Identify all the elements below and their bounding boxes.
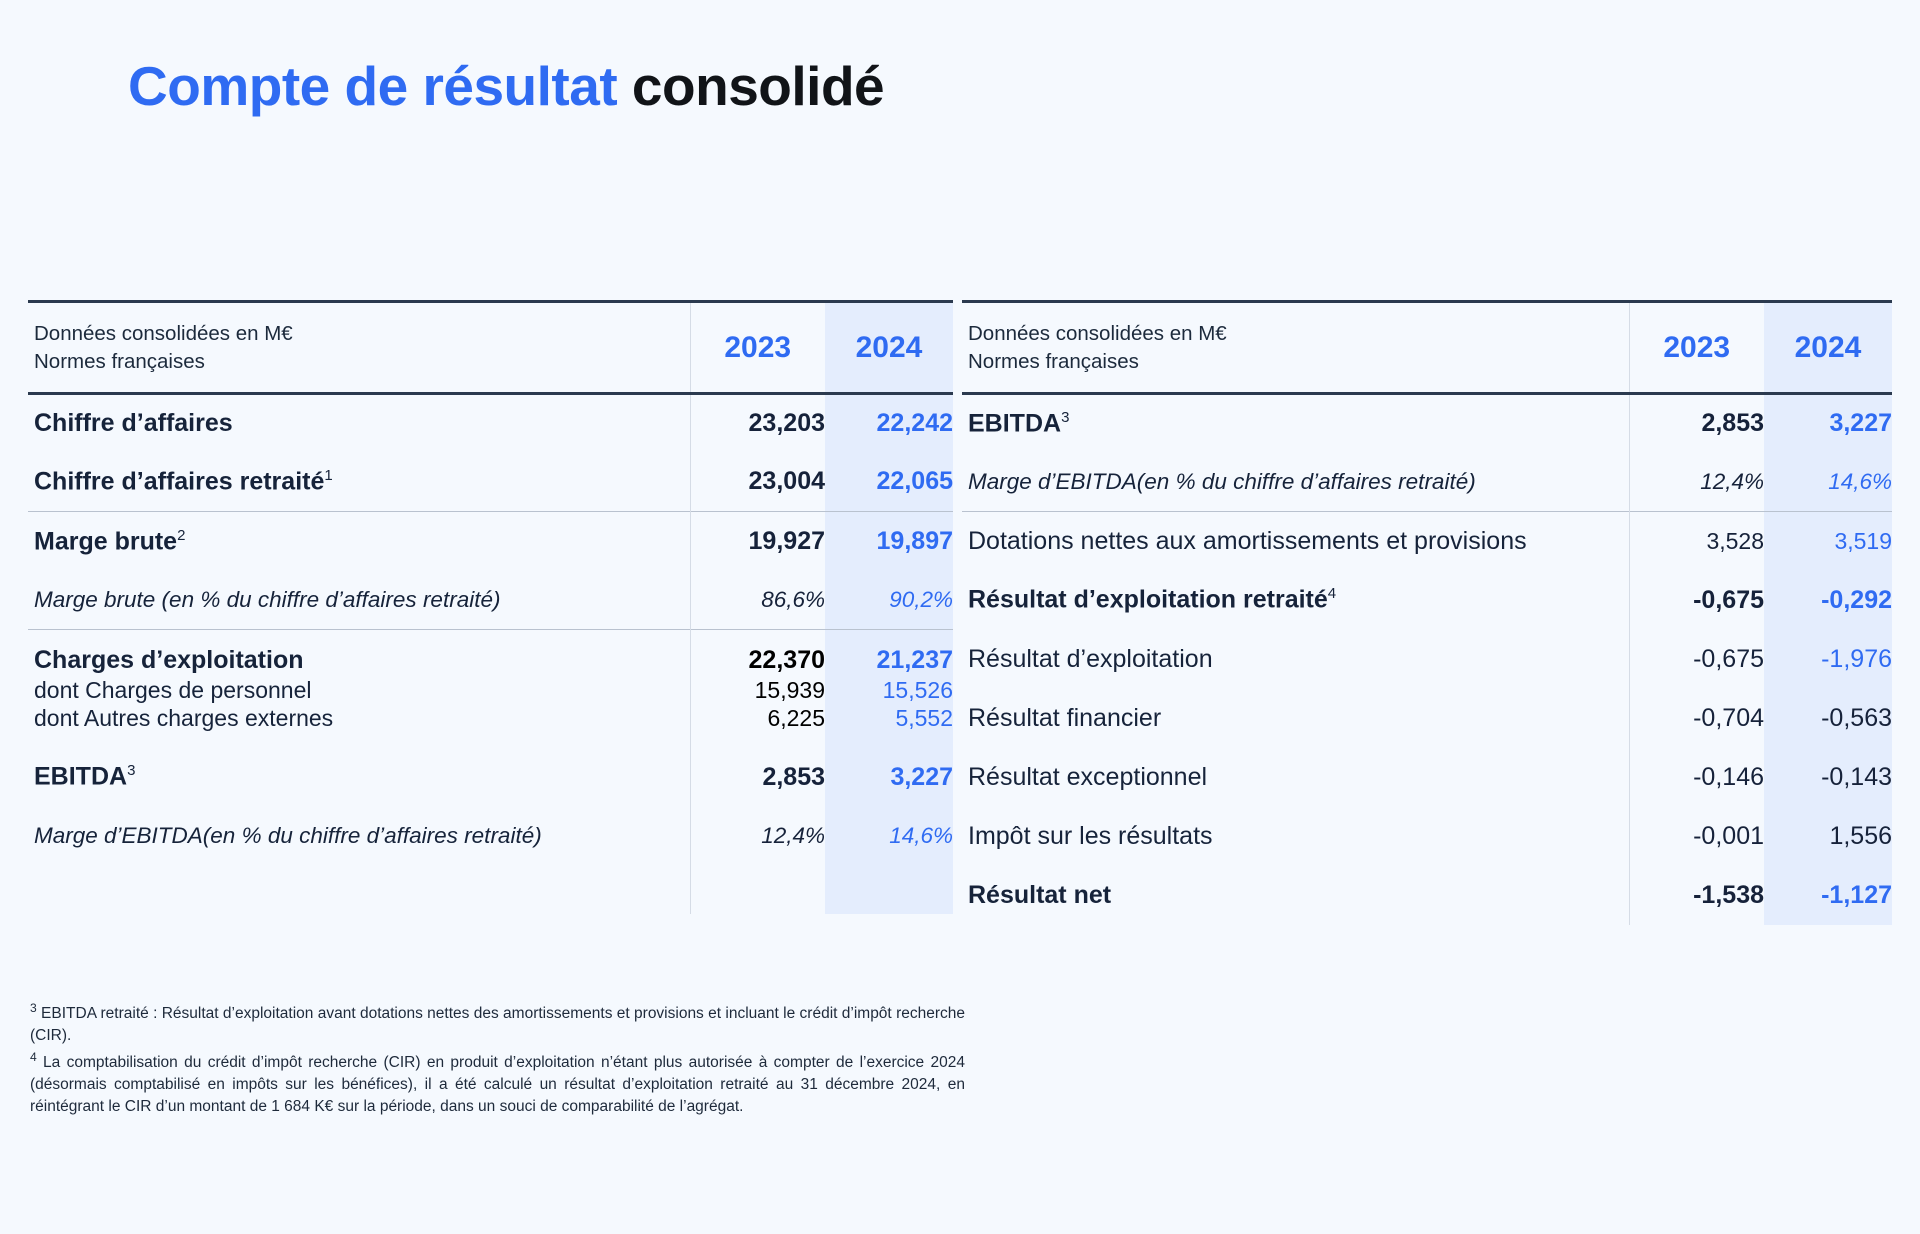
cell-2024: -1,976: [1764, 630, 1892, 689]
footnote-4: 4 La comptabilisation du crédit d’impôt …: [30, 1049, 965, 1118]
row-label: Charges d’exploitation: [34, 645, 690, 676]
table-row: Résultat d’exploitation retraité4 -0,675…: [962, 571, 1892, 630]
table-row: Impôt sur les résultats -0,001 1,556: [962, 807, 1892, 866]
cell-2023: -1,538: [1629, 866, 1764, 925]
cell-2024: 22,242: [825, 394, 953, 453]
table-row: Marge d’EBITDA(en % du chiffre d’affaire…: [28, 807, 953, 866]
row-sublabel-externes: dont Autres charges externes: [34, 704, 690, 732]
cell-2023: 3,528: [1629, 512, 1764, 571]
footnotes: 3 EBITDA retraité : Résultat d’exploitat…: [30, 1000, 965, 1120]
page-title: Compte de résultat consolidé: [128, 54, 884, 118]
slide-page: Compte de résultat consolidé Données con…: [0, 0, 1920, 1234]
row-label: EBITDA3: [962, 394, 1629, 453]
row-sublabel-personnel: dont Charges de personnel: [34, 676, 690, 704]
row-label: Marge brute2: [28, 512, 690, 571]
row-label: EBITDA3: [28, 748, 690, 807]
cell-2024-personnel: 15,526: [825, 676, 953, 704]
cell-2023-externes: 6,225: [691, 704, 826, 732]
cell-2024: 1,556: [1764, 807, 1892, 866]
table-header-row: Données consolidées en M€ Normes françai…: [962, 302, 1892, 394]
cell-2024: 14,6%: [825, 807, 953, 866]
page-title-highlight: Compte de résultat: [128, 55, 617, 117]
row-label: Chiffre d’affaires: [28, 394, 690, 453]
cell-2023: 19,927: [690, 512, 825, 571]
cell-group-2024: 21,237 15,526 5,552: [825, 630, 953, 748]
cell-2023: -0,675: [1629, 630, 1764, 689]
table-row: Marge brute (en % du chiffre d’affaires …: [28, 571, 953, 630]
cell-2023: -0,675: [1629, 571, 1764, 630]
cell-2024: -0,563: [1764, 689, 1892, 748]
row-label: Dotations nettes aux amortissements et p…: [962, 512, 1629, 571]
row-label: Résultat exceptionnel: [962, 748, 1629, 807]
cell-2023: -0,146: [1629, 748, 1764, 807]
cell-2024: 22,065: [825, 453, 953, 512]
table-row-total: Résultat net -1,538 -1,127: [962, 866, 1892, 925]
header-caption-line2: Normes françaises: [968, 348, 1629, 376]
table-filler-row: [28, 866, 953, 914]
cell-2023: -0,704: [1629, 689, 1764, 748]
column-header-2023: 2023: [690, 302, 825, 394]
footnote-4-text: La comptabilisation du crédit d’impôt re…: [30, 1054, 965, 1115]
table-row-charges: Charges d’exploitation dont Charges de p…: [28, 630, 953, 748]
footnote-ref: 3: [1061, 409, 1069, 426]
row-label: Impôt sur les résultats: [962, 807, 1629, 866]
cell-2023: 23,004: [690, 453, 825, 512]
row-label: Marge brute (en % du chiffre d’affaires …: [28, 571, 690, 630]
table-header-caption: Données consolidées en M€ Normes françai…: [28, 302, 690, 394]
row-label: Chiffre d’affaires retraité1: [28, 453, 690, 512]
header-caption-line1: Données consolidées en M€: [34, 320, 690, 348]
cell-2024: 90,2%: [825, 571, 953, 630]
header-caption-line2: Normes françaises: [34, 348, 690, 376]
cell-2023: 23,203: [690, 394, 825, 453]
footnote-3-marker: 3: [30, 1001, 37, 1015]
filler-2024: [825, 866, 953, 914]
page-title-rest: consolidé: [617, 55, 884, 117]
footnote-ref: 4: [1328, 585, 1336, 602]
table-header-caption: Données consolidées en M€ Normes françai…: [962, 302, 1629, 394]
cell-2024: 21,237: [825, 645, 953, 676]
cell-2024: 19,897: [825, 512, 953, 571]
cell-2023: 2,853: [690, 748, 825, 807]
cell-2023: 22,370: [691, 645, 826, 676]
income-statement-table-left: Données consolidées en M€ Normes françai…: [28, 300, 953, 914]
table-row: Dotations nettes aux amortissements et p…: [962, 512, 1892, 571]
table-row: EBITDA3 2,853 3,227: [28, 748, 953, 807]
cell-2024: 3,519: [1764, 512, 1892, 571]
column-header-2024: 2024: [825, 302, 953, 394]
table-row: Résultat d’exploitation -0,675 -1,976: [962, 630, 1892, 689]
cell-2023: 86,6%: [690, 571, 825, 630]
cell-2024: 14,6%: [1764, 453, 1892, 512]
cell-2024: -0,143: [1764, 748, 1892, 807]
row-label: Résultat d’exploitation: [962, 630, 1629, 689]
cell-2024-externes: 5,552: [825, 704, 953, 732]
row-label-group: Charges d’exploitation dont Charges de p…: [28, 630, 690, 748]
cell-2023: 12,4%: [690, 807, 825, 866]
header-caption-line1: Données consolidées en M€: [968, 320, 1629, 348]
cell-2023: 2,853: [1629, 394, 1764, 453]
row-label: Marge d’EBITDA(en % du chiffre d’affaire…: [28, 807, 690, 866]
footnote-4-marker: 4: [30, 1050, 37, 1064]
table-row: Chiffre d’affaires retraité1 23,004 22,0…: [28, 453, 953, 512]
filler-label: [28, 866, 690, 914]
footnote-ref: 2: [177, 527, 185, 544]
filler-2023: [690, 866, 825, 914]
footnote-ref: 3: [127, 762, 135, 779]
cell-group-2023: 22,370 15,939 6,225: [690, 630, 825, 748]
table-row: Résultat financier -0,704 -0,563: [962, 689, 1892, 748]
footnote-ref: 1: [324, 467, 332, 484]
cell-2024: 3,227: [1764, 394, 1892, 453]
column-header-2023: 2023: [1629, 302, 1764, 394]
table-row: EBITDA3 2,853 3,227: [962, 394, 1892, 453]
table-row: Résultat exceptionnel -0,146 -0,143: [962, 748, 1892, 807]
income-statement-table-right: Données consolidées en M€ Normes françai…: [962, 300, 1892, 925]
column-header-2024: 2024: [1764, 302, 1892, 394]
footnote-3: 3 EBITDA retraité : Résultat d’exploitat…: [30, 1000, 965, 1047]
table-row: Marge brute2 19,927 19,897: [28, 512, 953, 571]
row-label: Résultat net: [962, 866, 1629, 925]
footnote-3-text: EBITDA retraité : Résultat d’exploitatio…: [30, 1005, 965, 1044]
cell-2023: 12,4%: [1629, 453, 1764, 512]
table-header-row: Données consolidées en M€ Normes françai…: [28, 302, 953, 394]
table-row: Chiffre d’affaires 23,203 22,242: [28, 394, 953, 453]
cell-2024: -1,127: [1764, 866, 1892, 925]
cell-2023-personnel: 15,939: [691, 676, 826, 704]
row-label: Marge d’EBITDA(en % du chiffre d’affaire…: [962, 453, 1629, 512]
cell-2024: 3,227: [825, 748, 953, 807]
cell-2024: -0,292: [1764, 571, 1892, 630]
cell-2023: -0,001: [1629, 807, 1764, 866]
table-row: Marge d’EBITDA(en % du chiffre d’affaire…: [962, 453, 1892, 512]
row-label: Résultat financier: [962, 689, 1629, 748]
row-label: Résultat d’exploitation retraité4: [962, 571, 1629, 630]
